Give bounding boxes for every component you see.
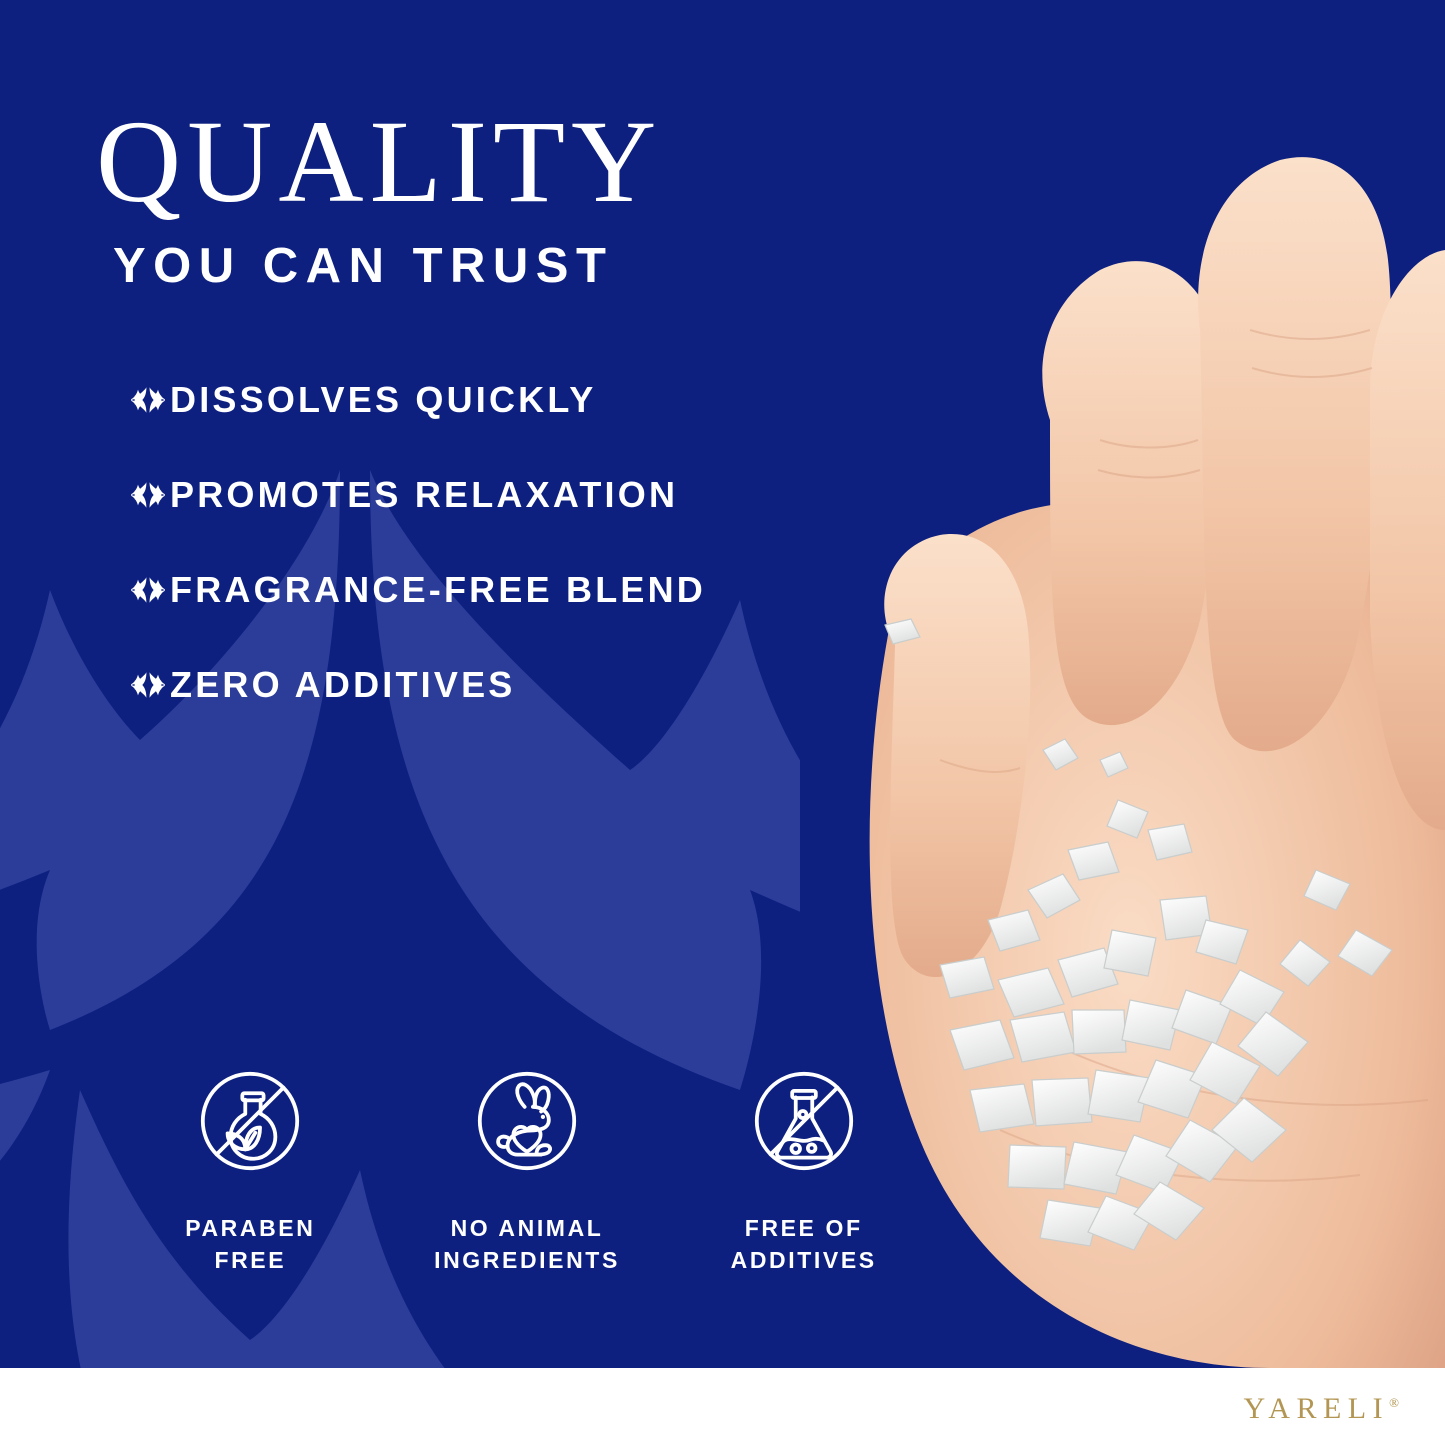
brand-logo: YARELI®	[1243, 1392, 1399, 1426]
badge-free-of-additives: FREE OF ADDITIVES	[665, 1062, 942, 1276]
badge-label: FREE OF ADDITIVES	[731, 1213, 877, 1276]
list-item-label: PROMOTES RELAXATION	[170, 477, 678, 513]
badge-paraben-free: PARABEN FREE	[112, 1062, 389, 1276]
swirl-bullet-icon	[131, 479, 165, 511]
list-item-label: DISSOLVES QUICKLY	[170, 382, 596, 418]
badge-no-animal-ingredients: NO ANIMAL INGREDIENTS	[389, 1062, 666, 1276]
benefits-list: DISSOLVES QUICKLY PROMOTES RELAXATION	[131, 352, 851, 732]
list-item: ZERO ADDITIVES	[131, 637, 851, 732]
list-item: FRAGRANCE-FREE BLEND	[131, 542, 851, 637]
no-paraben-flask-leaf-icon	[191, 1062, 309, 1180]
badge-label: PARABEN FREE	[185, 1213, 315, 1276]
list-item: DISSOLVES QUICKLY	[131, 352, 851, 447]
footer-bar: YARELI®	[0, 1368, 1445, 1445]
page-subtitle: YOU CAN TRUST	[113, 242, 613, 291]
rabbit-heart-cruelty-free-icon	[468, 1062, 586, 1180]
registered-trademark-icon: ®	[1389, 1395, 1399, 1410]
list-item-label: ZERO ADDITIVES	[170, 667, 516, 703]
badge-label: NO ANIMAL INGREDIENTS	[434, 1213, 620, 1276]
swirl-bullet-icon	[131, 384, 165, 416]
trust-badges: PARABEN FREE	[112, 1062, 942, 1276]
swirl-bullet-icon	[131, 574, 165, 606]
product-infographic: QUALITY YOU CAN TRUST DISSOLVES QUICKLY	[0, 0, 1445, 1445]
no-additives-flask-icon	[745, 1062, 863, 1180]
swirl-bullet-icon	[131, 669, 165, 701]
page-title: QUALITY	[96, 103, 662, 221]
brand-name: YARELI	[1243, 1392, 1389, 1425]
list-item-label: FRAGRANCE-FREE BLEND	[170, 572, 706, 608]
list-item: PROMOTES RELAXATION	[131, 447, 851, 542]
